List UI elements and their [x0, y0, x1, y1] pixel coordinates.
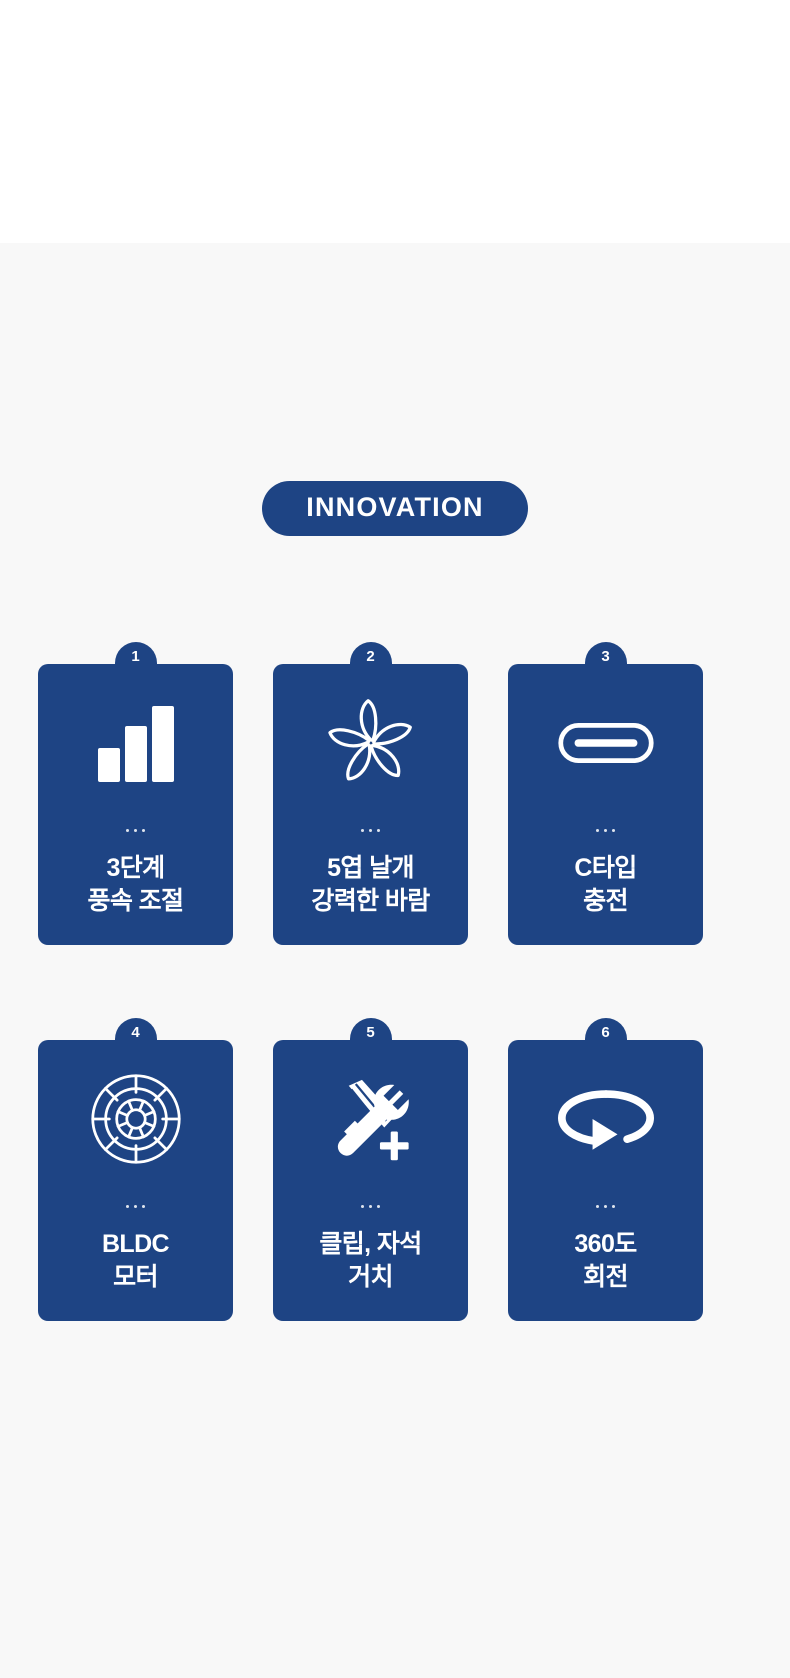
- innovation-badge: INNOVATION: [262, 481, 528, 536]
- feature-card-6[interactable]: 6 360도 회전: [508, 1018, 703, 1321]
- section-badge-wrapper: INNOVATION: [0, 481, 790, 536]
- dot-separator: [126, 822, 145, 838]
- fan-blade-icon: [273, 664, 468, 822]
- top-white-band: [0, 0, 790, 243]
- card-title-line2: 풍속 조절: [88, 885, 184, 918]
- feature-card-4[interactable]: 4: [38, 1018, 233, 1321]
- rotate-360-icon: [508, 1040, 703, 1198]
- card-title-line2: 회전: [574, 1261, 636, 1294]
- card-title-line1: 360도: [574, 1228, 636, 1261]
- feature-card-1[interactable]: 1 3단계 풍속 조절: [38, 642, 233, 945]
- motor-icon: [38, 1040, 233, 1198]
- card-title-line2: 강력한 바람: [311, 885, 429, 918]
- card-title-line1: 클립, 자석: [319, 1228, 421, 1261]
- card-title: 5엽 날개 강력한 바람: [311, 852, 429, 918]
- feature-card-3[interactable]: 3 C타입 충전: [508, 642, 703, 945]
- card-title: 3단계 풍속 조절: [88, 852, 184, 918]
- card-title: 클립, 자석 거치: [319, 1228, 421, 1294]
- card-title-line2: 충전: [574, 885, 636, 918]
- dot-separator: [596, 1198, 615, 1214]
- product-detail-page: INNOVATION 1 3단계 풍속 조절: [0, 0, 790, 1678]
- dot-separator: [126, 1198, 145, 1214]
- card-title-line2: 거치: [319, 1261, 421, 1294]
- card-title: 360도 회전: [574, 1228, 636, 1294]
- usb-c-port-icon: [508, 664, 703, 822]
- card-title-line1: 5엽 날개: [311, 852, 429, 885]
- tools-plus-icon: [273, 1040, 468, 1198]
- dot-separator: [361, 822, 380, 838]
- card-title-line1: C타입: [574, 852, 636, 885]
- card-title-line1: BLDC: [102, 1228, 169, 1261]
- dot-separator: [596, 822, 615, 838]
- feature-grid: 1 3단계 풍속 조절 2: [38, 642, 703, 1321]
- dot-separator: [361, 1198, 380, 1214]
- card-title-line2: 모터: [102, 1261, 169, 1294]
- card-title: BLDC 모터: [102, 1228, 169, 1294]
- feature-card-2[interactable]: 2: [273, 642, 468, 945]
- bar-chart-icon: [38, 664, 233, 822]
- card-title: C타입 충전: [574, 852, 636, 918]
- feature-card-5[interactable]: 5: [273, 1018, 468, 1321]
- card-title-line1: 3단계: [88, 852, 184, 885]
